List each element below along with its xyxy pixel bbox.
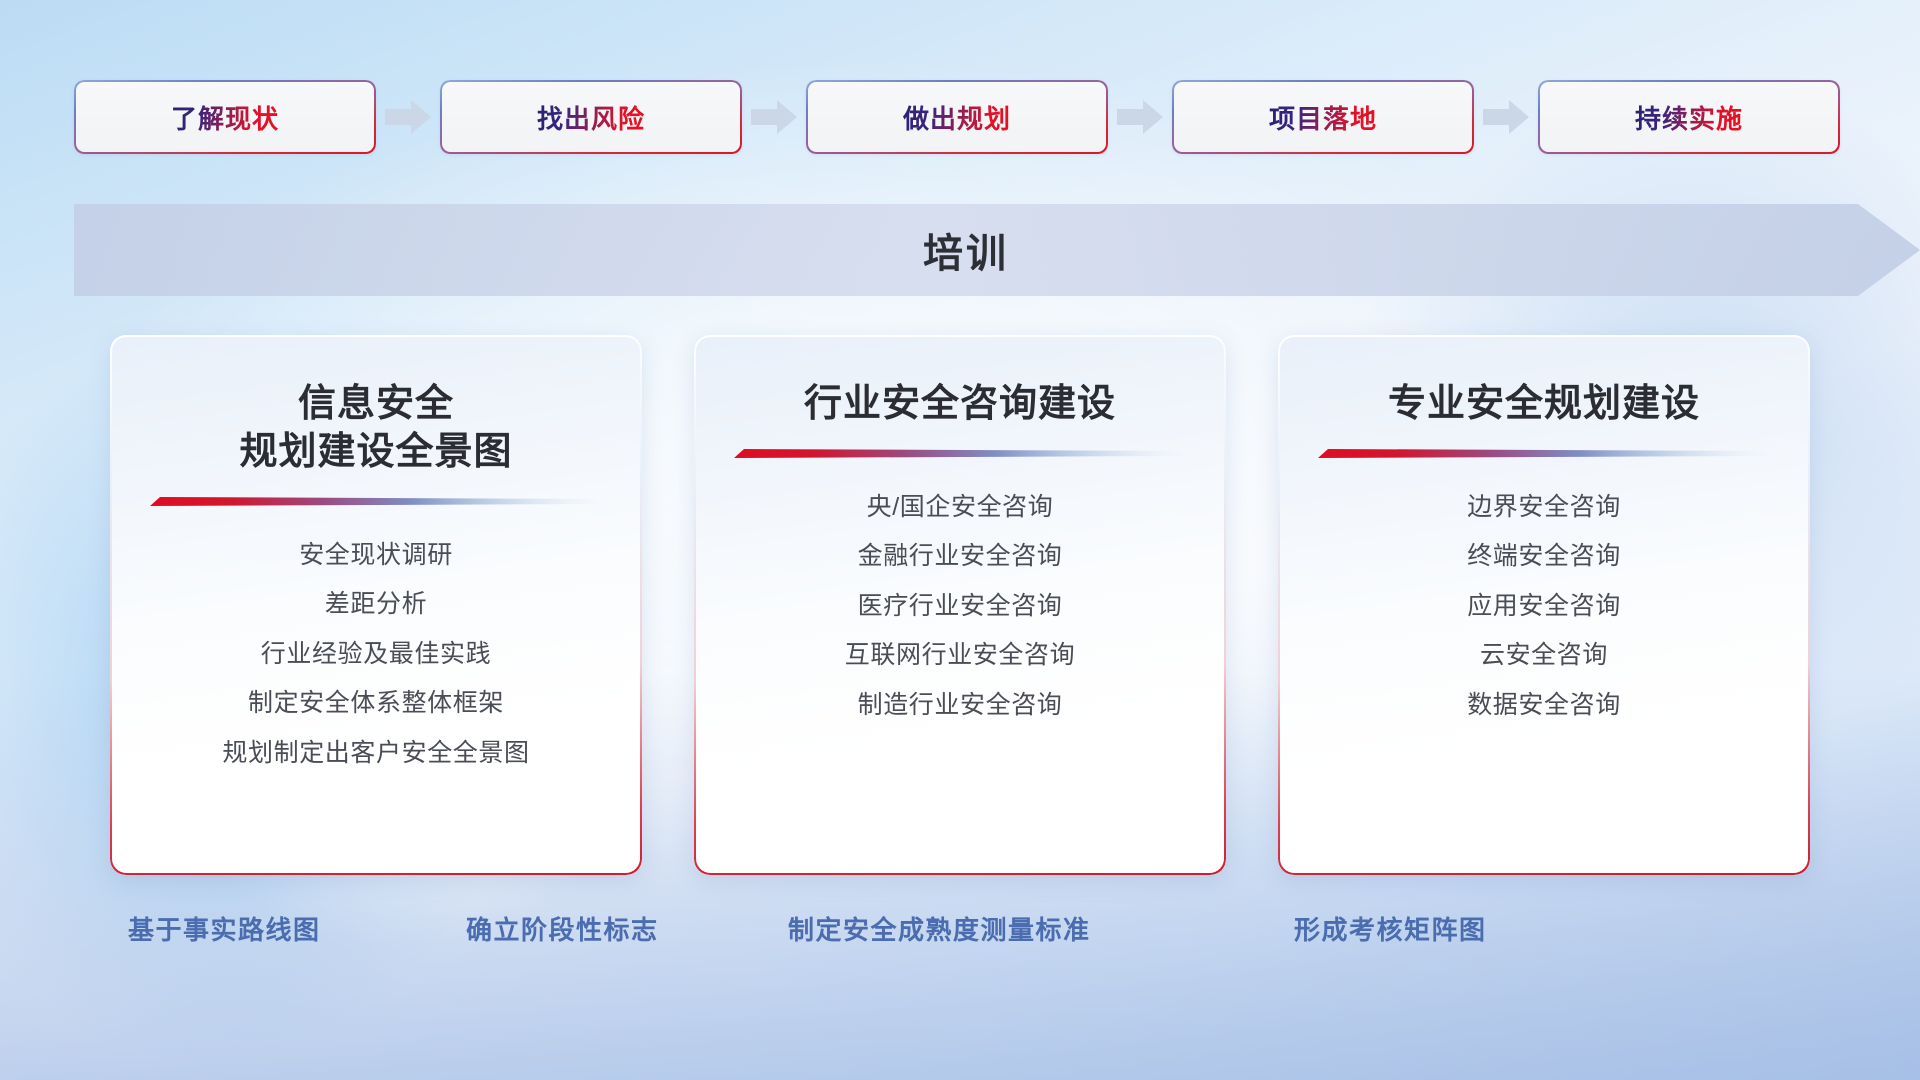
process-step-label: 项目落地	[1269, 99, 1377, 136]
process-step-label: 了解现状	[171, 99, 279, 136]
card-body: 专业安全规划建设边界安全咨询终端安全咨询应用安全咨询云安全咨询数据安全咨询	[1278, 335, 1810, 875]
bottom-label-row: 基于事实路线图确立阶段性标志制定安全成熟度测量标准形成考核矩阵图	[0, 910, 1920, 970]
process-step-label: 找出风险	[537, 99, 645, 136]
card-list-item[interactable]: 差距分析	[325, 586, 427, 624]
card-list-item[interactable]: 边界安全咨询	[1467, 489, 1621, 527]
bottom-label-3: 制定安全成熟度测量标准	[788, 910, 1091, 947]
service-card-2[interactable]: 行业安全咨询建设央/国企安全咨询金融行业安全咨询医疗行业安全咨询互联网行业安全咨…	[694, 335, 1226, 875]
process-step-5[interactable]: 持续实施	[1538, 80, 1840, 154]
card-list-item[interactable]: 安全现状调研	[299, 537, 453, 575]
card-list-item[interactable]: 行业经验及最佳实践	[261, 636, 491, 674]
card-title: 信息安全 规划建设全景图	[239, 381, 512, 477]
process-step-4[interactable]: 项目落地	[1172, 80, 1474, 154]
process-step-2[interactable]: 找出风险	[440, 80, 742, 154]
service-card-1[interactable]: 信息安全 规划建设全景图安全现状调研差距分析行业经验及最佳实践制定安全体系整体框…	[110, 335, 642, 875]
process-step-3[interactable]: 做出规划	[806, 80, 1108, 154]
card-list-item[interactable]: 规划制定出客户安全全景图	[222, 735, 529, 773]
bottom-label-2: 确立阶段性标志	[466, 910, 659, 947]
card-title: 专业安全规划建设	[1388, 381, 1700, 429]
process-arrow-icon	[742, 80, 806, 154]
card-divider	[734, 447, 1186, 461]
card-item-list: 安全现状调研差距分析行业经验及最佳实践制定安全体系整体框架规划制定出客户安全全景…	[138, 537, 614, 773]
card-item-list: 边界安全咨询终端安全咨询应用安全咨询云安全咨询数据安全咨询	[1306, 489, 1782, 725]
process-arrow-icon	[1108, 80, 1172, 154]
bottom-label-1: 基于事实路线图	[128, 910, 321, 947]
banner-title: 培训	[74, 204, 1858, 296]
card-list-item[interactable]: 医疗行业安全咨询	[858, 588, 1063, 626]
card-divider	[150, 495, 602, 509]
card-list-item[interactable]: 终端安全咨询	[1467, 538, 1621, 576]
card-divider	[1318, 447, 1770, 461]
process-step-label: 做出规划	[903, 99, 1011, 136]
training-banner: 培训	[74, 204, 1920, 296]
process-arrow-icon	[376, 80, 440, 154]
card-list-item[interactable]: 制造行业安全咨询	[858, 687, 1063, 725]
card-list-item[interactable]: 金融行业安全咨询	[858, 538, 1063, 576]
card-list-item[interactable]: 云安全咨询	[1480, 637, 1608, 675]
process-step-row: 了解现状找出风险做出规划项目落地持续实施	[74, 78, 1848, 156]
process-step-label: 持续实施	[1635, 99, 1743, 136]
process-arrow-icon	[1474, 80, 1538, 154]
card-title: 行业安全咨询建设	[804, 381, 1116, 429]
card-body: 行业安全咨询建设央/国企安全咨询金融行业安全咨询医疗行业安全咨询互联网行业安全咨…	[694, 335, 1226, 875]
card-row: 信息安全 规划建设全景图安全现状调研差距分析行业经验及最佳实践制定安全体系整体框…	[110, 335, 1810, 875]
service-card-3[interactable]: 专业安全规划建设边界安全咨询终端安全咨询应用安全咨询云安全咨询数据安全咨询	[1278, 335, 1810, 875]
card-list-item[interactable]: 数据安全咨询	[1467, 687, 1621, 725]
card-item-list: 央/国企安全咨询金融行业安全咨询医疗行业安全咨询互联网行业安全咨询制造行业安全咨…	[722, 489, 1198, 725]
card-body: 信息安全 规划建设全景图安全现状调研差距分析行业经验及最佳实践制定安全体系整体框…	[110, 335, 642, 875]
card-list-item[interactable]: 应用安全咨询	[1467, 588, 1621, 626]
process-step-1[interactable]: 了解现状	[74, 80, 376, 154]
card-list-item[interactable]: 央/国企安全咨询	[867, 489, 1054, 527]
bottom-label-4: 形成考核矩阵图	[1294, 910, 1487, 947]
card-list-item[interactable]: 互联网行业安全咨询	[845, 637, 1075, 675]
card-list-item[interactable]: 制定安全体系整体框架	[248, 685, 504, 723]
